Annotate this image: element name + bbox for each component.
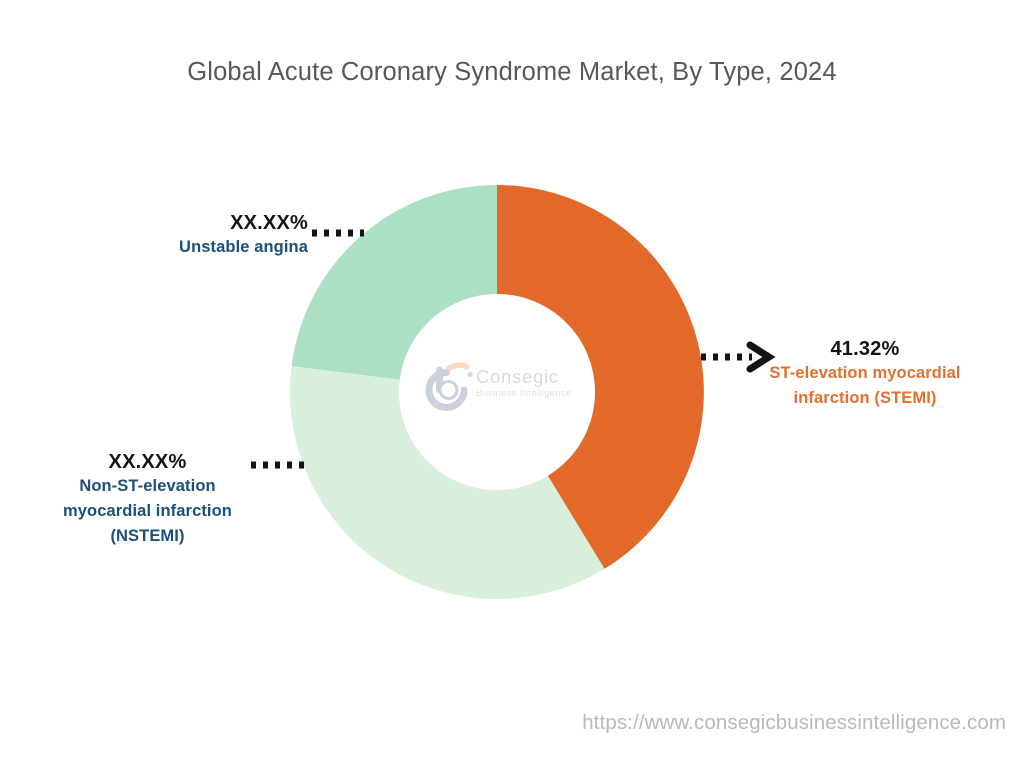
callout-percent-stemi: 41.32% [715,337,1015,361]
callout-percent-nstemi: XX.XX% [45,450,250,474]
callout-unstable-angina[interactable]: XX.XX% Unstable angina [90,211,308,260]
callout-label-stemi-line2: infarction (STEMI) [715,386,1015,411]
callout-label-nstemi-line3: (NSTEMI) [45,524,250,549]
chart-canvas: Global Acute Coronary Syndrome Market, B… [0,0,1024,768]
callout-label-nstemi-line1: Non-ST-elevation [45,474,250,499]
callout-label-nstemi-line2: myocardial infarction [45,499,250,524]
callout-stemi[interactable]: 41.32% ST-elevation myocardial infarctio… [715,337,1015,411]
callout-label-unstable-angina: Unstable angina [90,235,308,260]
callout-label-stemi-line1: ST-elevation myocardial [715,361,1015,386]
callout-nstemi[interactable]: XX.XX% Non-ST-elevation myocardial infar… [45,450,250,549]
footer-website-url[interactable]: https://www.consegicbusinessintelligence… [582,711,1006,735]
callout-percent-unstable-angina: XX.XX% [90,211,308,235]
donut-hole [399,294,595,490]
